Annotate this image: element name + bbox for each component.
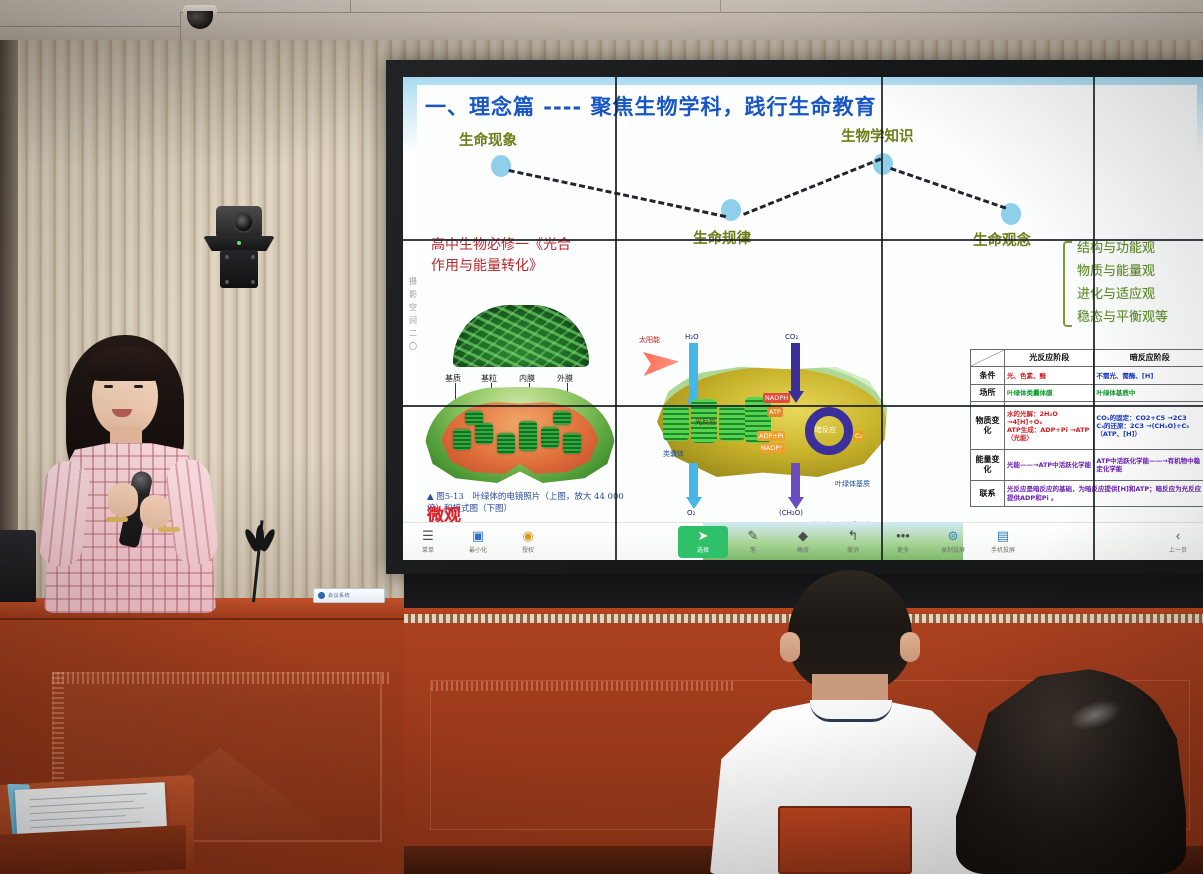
tool-eraser-label: 橡皮 xyxy=(797,545,809,554)
cell-energy-dark: ATP中活跃化学能——→有机物中稳定化学能 xyxy=(1094,450,1203,481)
cell-location-light: 叶绿体类囊体膜 xyxy=(1005,384,1094,401)
record-cast-icon: ⊜ xyxy=(948,529,959,543)
arrow-o2-out xyxy=(689,463,698,509)
minimize-icon: ▣ xyxy=(472,529,484,543)
chloroplast-label-inner-membrane: 内膜 xyxy=(519,373,535,384)
chip-adp-pi: ADP+Pi xyxy=(757,431,785,441)
front-desk-edge xyxy=(0,825,186,874)
table-header-row: 光反应阶段 暗反应阶段 xyxy=(971,350,1203,367)
presenter-hand-left xyxy=(108,483,138,517)
video-wall-display[interactable]: 一、理念篇 ---- 聚焦生物学科，践行生命教育 生命现象 生命规律 生物学知识… xyxy=(403,77,1203,560)
ptz-camera-icon xyxy=(203,206,275,294)
column-dark-reaction: 暗反应阶段 xyxy=(1094,350,1203,367)
toolbar-menu-label: 菜单 xyxy=(422,545,434,554)
row-head-location: 场所 xyxy=(971,384,1005,401)
videowall-seam-v3 xyxy=(1093,77,1095,560)
more-icon: ••• xyxy=(896,529,910,543)
node-label-life-law: 生命规律 xyxy=(693,227,751,248)
tool-phone-cast-label: 手机投屏 xyxy=(991,545,1015,554)
table-corner-cell xyxy=(971,350,1005,367)
toolbar-minimize-label: 最小化 xyxy=(469,545,487,554)
node-dot-1 xyxy=(491,155,511,177)
eraser-icon: ◆ xyxy=(798,529,808,543)
chloroplast-label-outer-membrane: 外膜 xyxy=(557,373,573,384)
label-stroma: 叶绿体基质 xyxy=(835,479,870,489)
chip-atp: ATP xyxy=(767,407,783,417)
badge-icon: ◉ xyxy=(522,529,533,543)
presenter-eye-right xyxy=(134,385,143,388)
menu-icon: ☰ xyxy=(422,529,434,543)
nameplate-text: 会议系统 xyxy=(328,592,350,599)
label-solar-energy: 太阳能 xyxy=(639,335,660,345)
table-row: 物质变化 水的光解：2H₂O →4[H]+O₂ ATP生成：ADP+Pi →AT… xyxy=(971,402,1203,450)
videowall-seam-v2 xyxy=(881,77,883,560)
chloroplast-diagram xyxy=(425,387,615,483)
tool-record-cast-button[interactable]: ⊜ 录制投屏 xyxy=(928,523,978,561)
toolbar-menu-button[interactable]: ☰ 菜单 xyxy=(403,523,453,561)
light-dark-reaction-table: 光反应阶段 暗反应阶段 条件 光、色素、酶 不需光、需酶、[H] 场所 叶绿体类… xyxy=(970,349,1203,507)
side-vertical-text: 摄影空间二〇 xyxy=(409,275,421,353)
chip-c3: C₃ xyxy=(853,431,864,441)
phone-cast-icon: ▤ xyxy=(997,529,1009,543)
table-row: 场所 叶绿体类囊体膜 叶绿体基质中 xyxy=(971,384,1203,401)
cell-conditions-light: 光、色素、酶 xyxy=(1005,367,1094,384)
arrow-ch2o-out xyxy=(791,463,800,509)
label-water-input: H₂O xyxy=(685,333,699,341)
chloroplast-label-stroma: 基质 xyxy=(445,373,461,384)
tool-more-button[interactable]: ••• 更多 xyxy=(878,523,928,561)
node-dot-3 xyxy=(873,153,893,175)
microphone-head-2 xyxy=(246,528,274,580)
videowall-seam-h2 xyxy=(403,405,1203,407)
toolbar-minimize-button[interactable]: ▣ 最小化 xyxy=(453,523,503,561)
table-row: 联系 光反应是暗反应的基础，为暗反应提供[H]和ATP；暗反应为光反应提供ADP… xyxy=(971,481,1203,507)
label-dark-reaction: 暗反应 xyxy=(815,425,836,435)
concept-matter-energy: 物质与能量观 xyxy=(1077,260,1199,283)
row-head-conditions: 条件 xyxy=(971,367,1005,384)
chevron-left-icon: ‹ xyxy=(1176,529,1180,543)
book-title: 高中生物必修一《光合作用与能量转化》 xyxy=(431,235,571,277)
dome-camera-icon xyxy=(183,5,217,31)
audience-man-ear-left xyxy=(780,632,800,662)
arrow-co2-in xyxy=(791,343,800,403)
chloroplast-micrograph xyxy=(453,305,589,367)
audience-member-woman xyxy=(956,668,1203,874)
whiteboard-toolbar[interactable]: ☰ 菜单 ▣ 最小化 ◉ 授权 ➤ 选择 ✎ 笔 xyxy=(403,522,1203,560)
ceiling xyxy=(0,0,1203,42)
page-prev-button[interactable]: ‹ 上一页 xyxy=(1153,523,1203,561)
tool-select-button[interactable]: ➤ 选择 xyxy=(678,526,728,558)
videowall-seam-v1 xyxy=(615,77,617,560)
presenter xyxy=(30,335,230,613)
tool-select-label: 选择 xyxy=(697,545,709,554)
label-light-reaction: 光反应 xyxy=(695,417,716,427)
chip-nadp: NADP⁺ xyxy=(759,443,785,453)
node-label-life-phenomena: 生命现象 xyxy=(459,129,517,150)
presentation-slide: 一、理念篇 ---- 聚焦生物学科，践行生命教育 生命现象 生命规律 生物学知识… xyxy=(403,77,1203,560)
cell-conditions-dark: 不需光、需酶、[H] xyxy=(1094,367,1203,384)
presenter-eye-left xyxy=(104,385,113,388)
label-co2-input: CO₂ xyxy=(785,333,798,341)
chip-nadph: NADPH xyxy=(763,393,790,403)
videowall-seam-h1 xyxy=(403,239,1203,241)
column-light-reaction: 光反应阶段 xyxy=(1005,350,1094,367)
label-ch2o-output: (CH₂O) xyxy=(779,509,803,517)
audience-man-collar xyxy=(810,700,892,722)
audience-man-ear-right xyxy=(900,632,920,662)
toolbar-license-button[interactable]: ◉ 授权 xyxy=(503,523,553,561)
presenter-fringe xyxy=(85,347,167,381)
cell-location-dark: 叶绿体基质中 xyxy=(1094,384,1203,401)
tool-record-cast-label: 录制投屏 xyxy=(941,545,965,554)
row-head-energy-change: 能量变化 xyxy=(971,450,1005,481)
sun-rays-icon xyxy=(643,349,679,379)
lecture-hall-scene: 一、理念篇 ---- 聚焦生物学科，践行生命教育 生命现象 生命规律 生物学知识… xyxy=(0,0,1203,874)
tool-more-label: 更多 xyxy=(897,545,909,554)
undo-icon: ↰ xyxy=(848,529,859,543)
chloroplast-label-granum: 基粒 xyxy=(481,373,497,384)
tool-undo-button[interactable]: ↰ 撤消 xyxy=(828,523,878,561)
cell-matter-light: 水的光解：2H₂O →4[H]+O₂ ATP生成：ADP+Pi →ATP（光能） xyxy=(1005,402,1094,450)
desk-nameplate: 会议系统 xyxy=(313,588,385,603)
tool-undo-label: 撤消 xyxy=(847,545,859,554)
cell-relation-span: 光反应是暗反应的基础，为暗反应提供[H]和ATP；暗反应为光反应提供ADP和Pi… xyxy=(1005,481,1203,507)
core-concepts-group: 结构与功能观 物质与能量观 进化与适应观 稳态与平衡观等 xyxy=(1063,237,1199,329)
cursor-icon: ➤ xyxy=(698,529,709,543)
tool-pen-label: 笔 xyxy=(750,545,756,554)
tool-phone-cast-button[interactable]: ▤ 手机投屏 xyxy=(978,523,1028,561)
label-thylakoid: 类囊体 xyxy=(663,449,684,459)
audience-woman-hair xyxy=(956,668,1186,874)
presenter-bracelet-right xyxy=(158,527,180,532)
chair-back xyxy=(778,806,912,874)
table-row: 条件 光、色素、酶 不需光、需酶、[H] xyxy=(971,367,1203,384)
presenter-hand-right xyxy=(140,495,170,529)
page-prev-label: 上一页 xyxy=(1169,545,1187,554)
pen-icon: ✎ xyxy=(748,529,759,543)
row-head-matter-change: 物质变化 xyxy=(971,402,1005,450)
row-head-relation: 联系 xyxy=(971,481,1005,507)
cell-matter-dark: CO₂的固定：CO2+C5 →2C3 C₃的还原：2C3 →(CH₂O)+C₅（… xyxy=(1094,402,1203,450)
cell-energy-light: 光能——→ATP中活跃化学能 xyxy=(1005,450,1094,481)
slide-title: 一、理念篇 ---- 聚焦生物学科，践行生命教育 xyxy=(425,91,876,121)
concept-evolution-adaptation: 进化与适应观 xyxy=(1077,283,1199,306)
label-o2-output: O₂ xyxy=(687,509,695,517)
table-row: 能量变化 光能——→ATP中活跃化学能 ATP中活跃化学能——→有机物中稳定化学… xyxy=(971,450,1203,481)
nameplate-logo-icon xyxy=(318,592,325,599)
presenter-bracelet-left xyxy=(106,517,128,522)
audience-man-head xyxy=(788,570,912,690)
tool-eraser-button[interactable]: ◆ 橡皮 xyxy=(778,523,828,561)
node-label-bio-knowledge: 生物学知识 xyxy=(841,125,914,146)
toolbar-license-label: 授权 xyxy=(522,545,534,554)
photosynthesis-diagram: 太阳能 H₂O CO₂ O₂ (CH₂O) xyxy=(639,313,905,525)
concept-homeostasis-balance: 稳态与平衡观等 xyxy=(1077,306,1199,329)
tool-pen-button[interactable]: ✎ 笔 xyxy=(728,523,778,561)
